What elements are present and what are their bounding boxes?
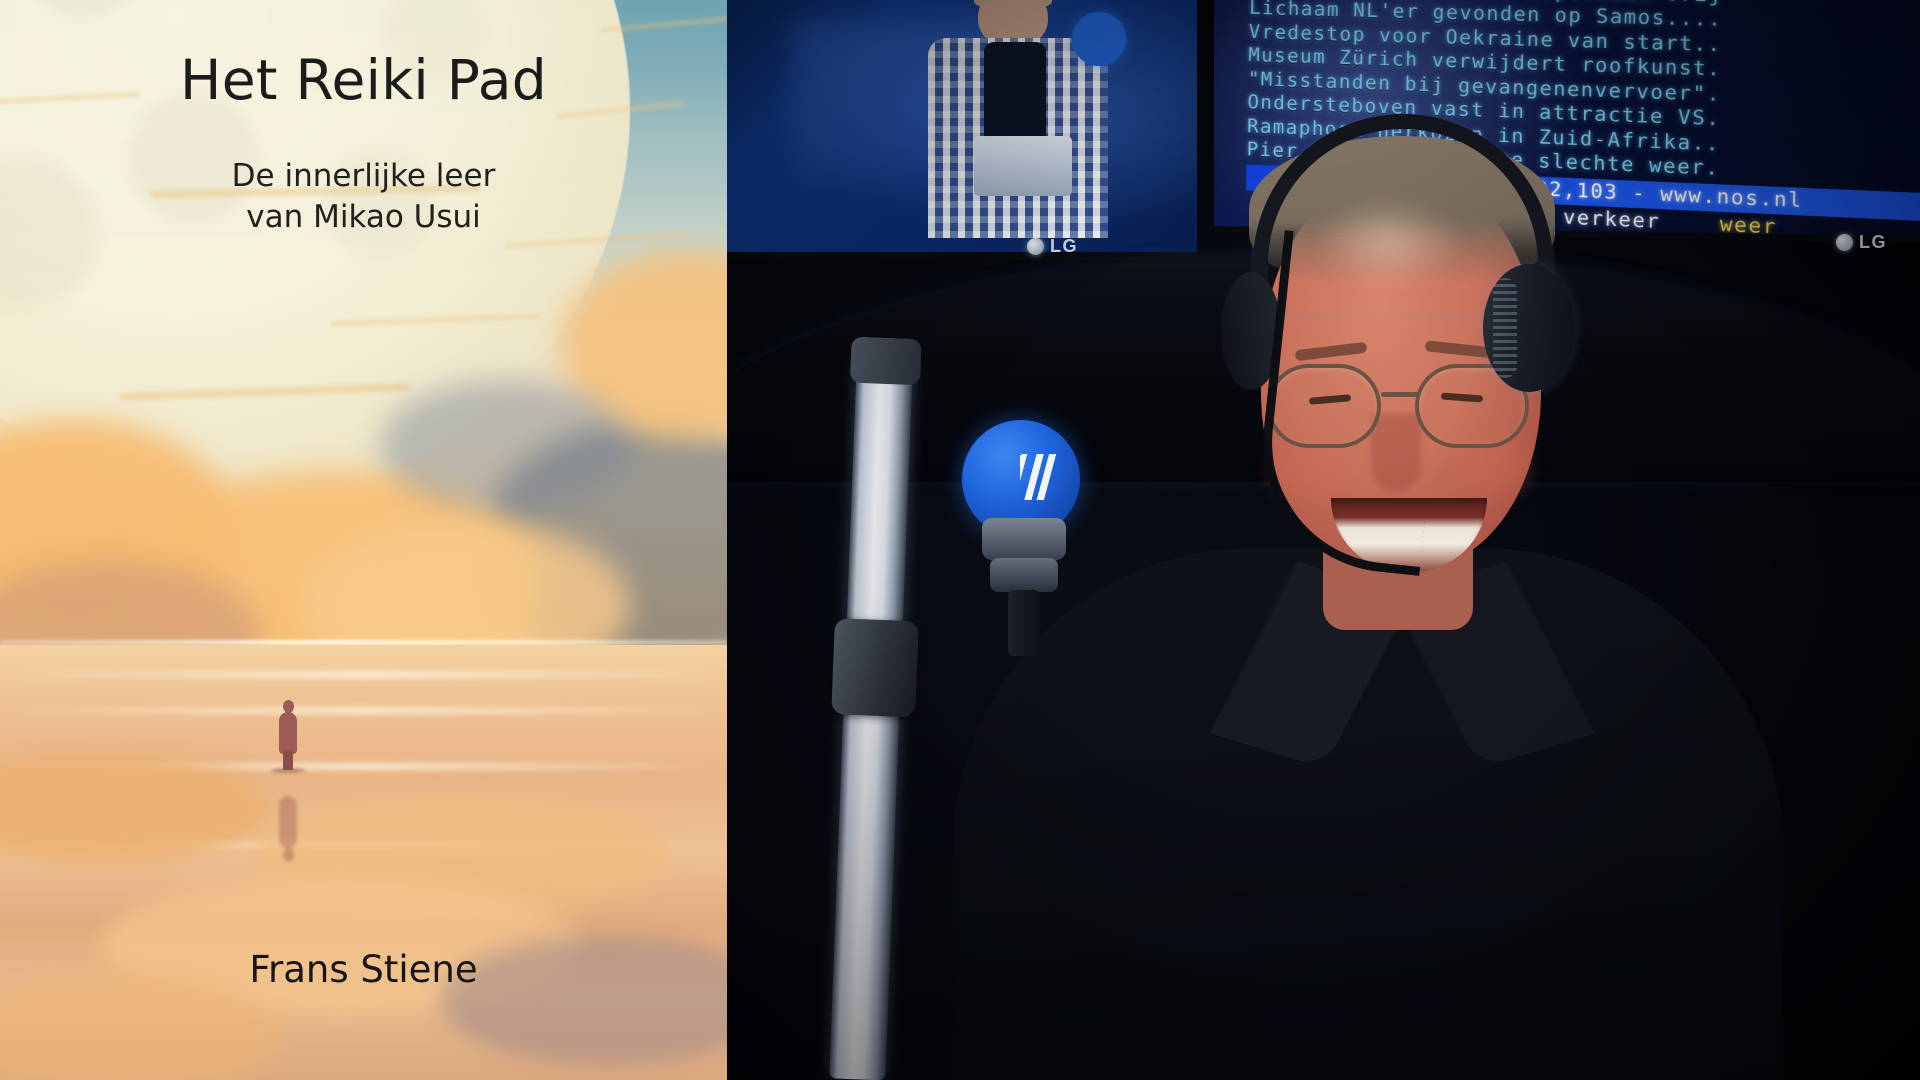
boom-arm-upper-joint xyxy=(850,337,922,386)
microphone-ring-lower xyxy=(990,558,1058,592)
boom-arm-joint xyxy=(831,618,919,717)
microphone-body xyxy=(952,512,1094,618)
figure-reflection-torso xyxy=(279,796,297,848)
water-reflection-cloud xyxy=(0,755,270,865)
book-subtitle-line-1: De innerlijke leer xyxy=(0,156,727,197)
water-streak xyxy=(0,671,727,678)
water-streak xyxy=(0,707,727,714)
walking-figure-reflection xyxy=(277,776,299,872)
figure-reflection-head xyxy=(283,848,294,862)
headphone-earcup-right xyxy=(1483,264,1575,392)
book-author: Frans Stiene xyxy=(0,948,727,991)
figure-torso xyxy=(279,712,297,754)
walking-figure xyxy=(277,700,299,772)
split-screen-layout: Het Reiki Pad De innerlijke leer van Mik… xyxy=(0,0,1920,1080)
book-title: Het Reiki Pad xyxy=(0,48,727,112)
guest-microphone xyxy=(1072,12,1126,66)
lg-wordmark-right: LG xyxy=(1859,232,1887,253)
figure-shadow xyxy=(271,768,305,773)
microphone-logo-icon xyxy=(1020,454,1068,500)
cloud-mass xyxy=(380,380,630,510)
lg-logo-right: LG xyxy=(1836,232,1887,253)
figure-legs xyxy=(283,750,293,770)
lg-circle-icon xyxy=(1836,234,1853,251)
microphone-ring-upper xyxy=(982,518,1066,560)
teletext-footer-weer: weer xyxy=(1720,213,1778,241)
water-surface xyxy=(0,645,727,1080)
book-cover-panel: Het Reiki Pad De innerlijke leer van Mik… xyxy=(0,0,727,1080)
book-subtitle-line-2: van Mikao Usui xyxy=(0,197,727,238)
book-subtitle: De innerlijke leer van Mikao Usui xyxy=(0,156,727,238)
microphone-stem xyxy=(1008,590,1040,656)
studio-photo-panel: LG Vrachtschip Rode Zee aan het zinken I… xyxy=(727,0,1920,1080)
